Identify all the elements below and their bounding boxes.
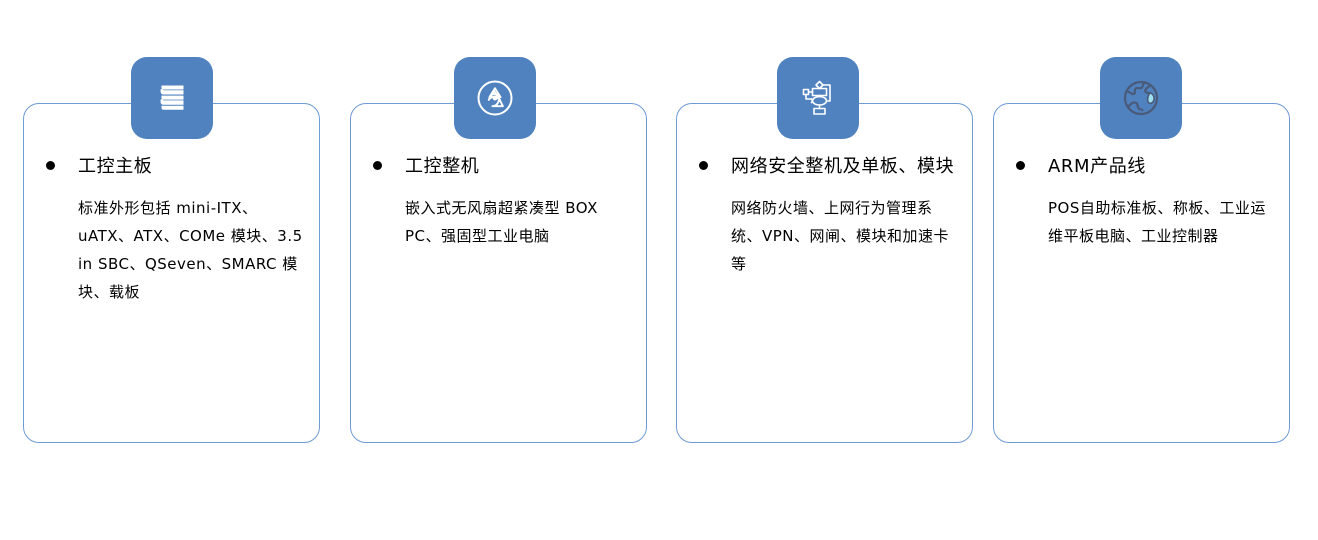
card-title-row: ARM产品线 POS自助标准板、称板、工业运维平板电脑、工业控制器 [1016, 152, 1275, 250]
stacked-boards-icon [150, 76, 194, 120]
bullet-icon [46, 161, 55, 170]
card-title: ARM产品线 [1048, 152, 1275, 182]
card-title: 网络安全整机及单板、模块 [731, 152, 958, 182]
product-card-industrial-motherboard[interactable]: 工控主板 标准外形包括 mini-ITX、uATX、ATX、COMe 模块、3.… [23, 103, 320, 443]
card-title-row: 工控整机 嵌入式无风扇超紧凑型 BOX PC、强固型工业电脑 [373, 152, 632, 250]
product-card-industrial-computer[interactable]: 工控整机 嵌入式无风扇超紧凑型 BOX PC、强固型工业电脑 [350, 103, 647, 443]
card-description: POS自助标准板、称板、工业运维平板电脑、工业控制器 [1048, 194, 1275, 250]
card-content: 网络安全整机及单板、模块 网络防火墙、上网行为管理系统、VPN、网闸、模块和加速… [699, 152, 958, 278]
bullet-icon [699, 161, 708, 170]
bullet-icon [373, 161, 382, 170]
card-text-block: 网络安全整机及单板、模块 网络防火墙、上网行为管理系统、VPN、网闸、模块和加速… [731, 152, 958, 278]
globe-icon [1118, 75, 1164, 121]
card-board: 工控主板 标准外形包括 mini-ITX、uATX、ATX、COMe 模块、3.… [0, 0, 1318, 540]
card-content: ARM产品线 POS自助标准板、称板、工业运维平板电脑、工业控制器 [1016, 152, 1275, 250]
icon-tile-fan-blades [454, 57, 536, 139]
card-title: 工控整机 [405, 152, 632, 182]
product-card-network-security[interactable]: 网络安全整机及单板、模块 网络防火墙、上网行为管理系统、VPN、网闸、模块和加速… [676, 103, 973, 443]
network-topology-icon [795, 75, 841, 121]
icon-tile-globe [1100, 57, 1182, 139]
icon-tile-stacked-boards [131, 57, 213, 139]
product-card-arm-product-line[interactable]: ARM产品线 POS自助标准板、称板、工业运维平板电脑、工业控制器 [993, 103, 1290, 443]
card-text-block: 工控整机 嵌入式无风扇超紧凑型 BOX PC、强固型工业电脑 [405, 152, 632, 250]
icon-tile-network-topology [777, 57, 859, 139]
bullet-icon [1016, 161, 1025, 170]
card-text-block: ARM产品线 POS自助标准板、称板、工业运维平板电脑、工业控制器 [1048, 152, 1275, 250]
card-description: 嵌入式无风扇超紧凑型 BOX PC、强固型工业电脑 [405, 194, 632, 250]
card-text-block: 工控主板 标准外形包括 mini-ITX、uATX、ATX、COMe 模块、3.… [78, 152, 305, 306]
card-title-row: 工控主板 标准外形包括 mini-ITX、uATX、ATX、COMe 模块、3.… [46, 152, 305, 306]
card-title: 工控主板 [78, 152, 305, 182]
card-description: 网络防火墙、上网行为管理系统、VPN、网闸、模块和加速卡等 [731, 194, 958, 278]
card-content: 工控主板 标准外形包括 mini-ITX、uATX、ATX、COMe 模块、3.… [46, 152, 305, 306]
card-description: 标准外形包括 mini-ITX、uATX、ATX、COMe 模块、3.5 in … [78, 194, 305, 306]
fan-blades-icon [472, 75, 518, 121]
card-content: 工控整机 嵌入式无风扇超紧凑型 BOX PC、强固型工业电脑 [373, 152, 632, 250]
card-title-row: 网络安全整机及单板、模块 网络防火墙、上网行为管理系统、VPN、网闸、模块和加速… [699, 152, 958, 278]
